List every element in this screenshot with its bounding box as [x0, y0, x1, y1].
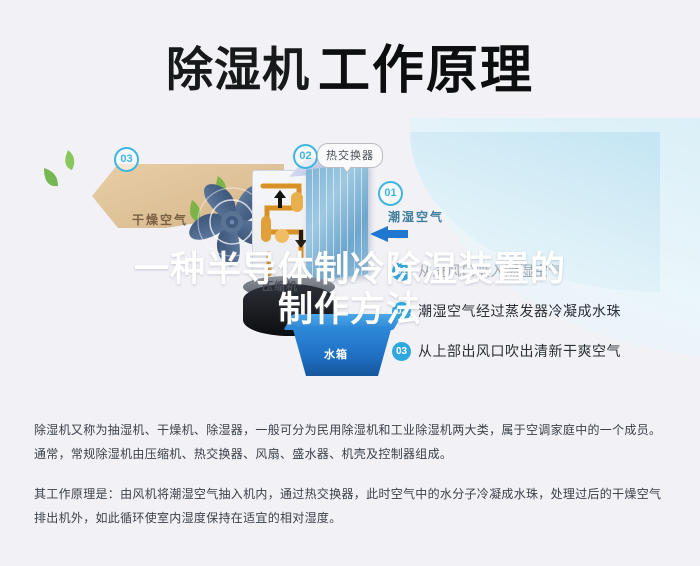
list-item: 01 从进风口吸入潮湿空气 — [392, 256, 692, 286]
list-item: 03 从上部出风口吹出清新干爽空气 — [392, 336, 692, 366]
page-title: 除湿机工作原理 — [0, 28, 700, 103]
leaf-decoration-icon — [38, 146, 82, 194]
page-title-part2: 工作原理 — [318, 42, 534, 100]
diagram-badge-01: 01 — [378, 181, 403, 206]
copper-tubing-icon — [255, 174, 313, 286]
step-badge-02: 02 — [392, 302, 411, 321]
description-paragraph-1: 除湿机又称为抽湿机、干燥机、除湿器，一般可分为民用除湿机和工业除湿机两大类，属于… — [34, 418, 674, 466]
list-item: 02 潮湿空气经过蒸发器冷凝成水珠 — [392, 296, 692, 326]
paragraph-2-line-2: 排出机外，如此循环使室内湿度保持在适宜的相对湿度。 — [34, 506, 674, 530]
step-text-02: 潮湿空气经过蒸发器冷凝成水珠 — [418, 301, 621, 321]
diagram-badge-03: 03 — [114, 147, 139, 172]
diagram-badge-02: 02 — [293, 144, 318, 169]
paragraph-2-line-1: 其工作原理是：由风机将潮湿空气抽入机内，通过热交换器，此时空气中的水分子冷凝成水… — [34, 482, 674, 506]
step-text-03: 从上部出风口吹出清新干爽空气 — [418, 341, 621, 361]
step-badge-01: 01 — [392, 262, 411, 281]
water-tank-label: 水箱 — [324, 346, 348, 362]
step-list: 01 从进风口吸入潮湿空气 02 潮湿空气经过蒸发器冷凝成水珠 03 从上部出风… — [392, 256, 692, 376]
wet-air-label: 潮湿空气 — [388, 208, 444, 225]
wet-air-inflow-arrow-tail — [386, 230, 408, 238]
paragraph-1-line-1: 除湿机又称为抽湿机、干燥机、除湿器，一般可分为民用除湿机和工业除湿机两大类，属于… — [34, 418, 674, 442]
heat-exchanger-fins — [306, 162, 368, 282]
description-paragraph-2: 其工作原理是：由风机将潮湿空气抽入机内，通过热交换器，此时空气中的水分子冷凝成水… — [34, 482, 674, 530]
page-title-part1: 除湿机 — [166, 43, 310, 96]
paragraph-1-line-2: 通常，常规除湿机由压缩机、热交换器、风扇、盛水器、机壳及控制器组成。 — [34, 442, 674, 466]
compressor-label: 压缩机 — [262, 278, 298, 294]
step-text-01: 从进风口吸入潮湿空气 — [418, 261, 563, 281]
heat-exchanger-callout: 热交换器 — [317, 143, 383, 168]
water-tank-icon: 水箱 — [288, 314, 398, 376]
step-badge-03: 03 — [392, 342, 411, 361]
infographic-page: 除湿机工作原理 03 干燥空气 — [0, 0, 700, 566]
